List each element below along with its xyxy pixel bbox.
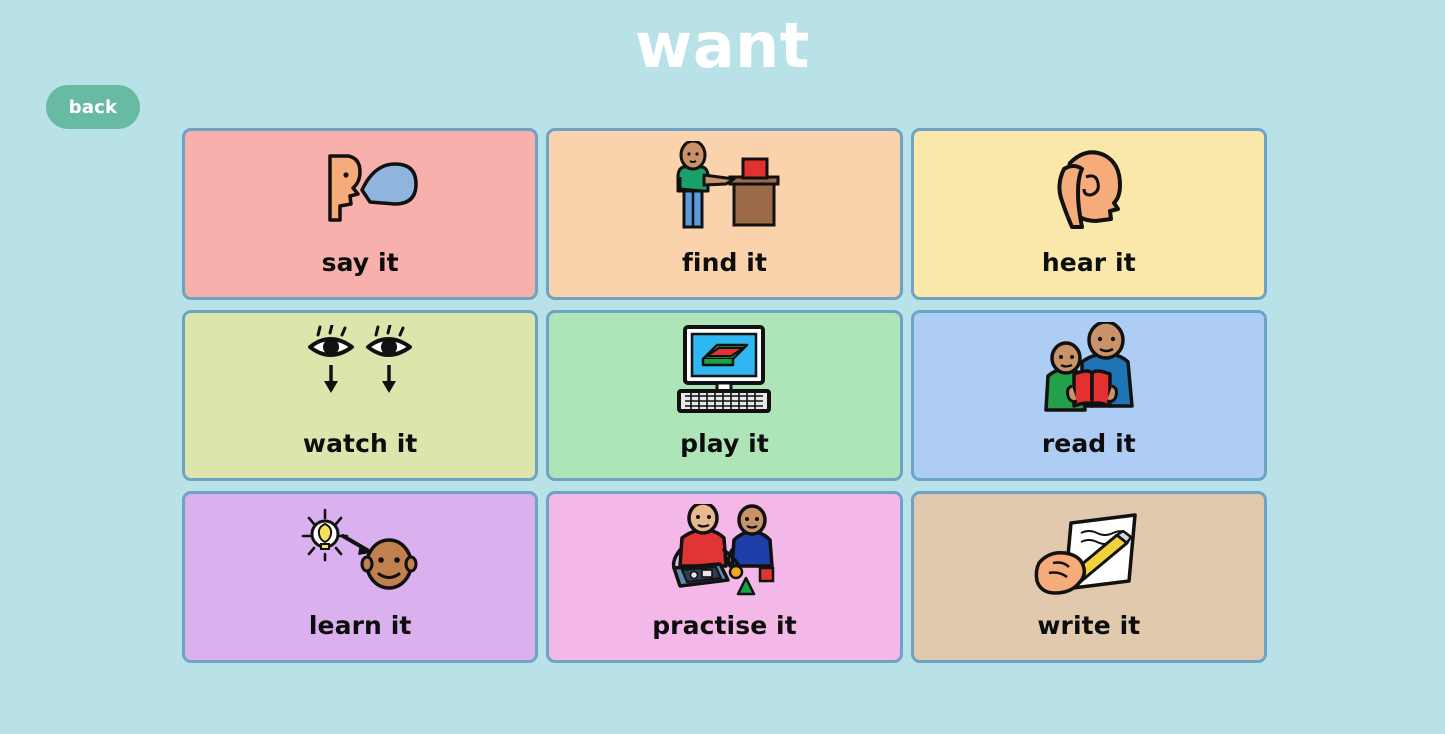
speaking-head-icon	[295, 140, 425, 236]
card-practise-it[interactable]: practise it	[546, 491, 902, 663]
hand-to-ear-icon	[1024, 140, 1154, 236]
card-find-it[interactable]: find it	[546, 128, 902, 300]
person-pointing-at-object-icon	[659, 140, 789, 236]
card-label: practise it	[549, 611, 899, 640]
card-label: watch it	[185, 429, 535, 458]
activity-card-grid: say it	[182, 128, 1267, 663]
computer-game-icon	[659, 321, 789, 417]
card-play-it[interactable]: play it	[546, 310, 902, 482]
card-say-it[interactable]: say it	[182, 128, 538, 300]
card-watch-it[interactable]: watch it	[182, 310, 538, 482]
two-eyes-looking-down-icon	[295, 321, 425, 417]
adult-and-child-reading-book-icon	[1024, 321, 1154, 417]
page-title: want	[0, 12, 1445, 80]
card-learn-it[interactable]: learn it	[182, 491, 538, 663]
lightbulb-idea-to-head-icon	[295, 503, 425, 599]
card-read-it[interactable]: read it	[911, 310, 1267, 482]
card-label: learn it	[185, 611, 535, 640]
back-button[interactable]: back	[46, 85, 140, 129]
hand-writing-with-pencil-icon	[1024, 503, 1154, 599]
card-label: hear it	[914, 248, 1264, 277]
card-write-it[interactable]: write it	[911, 491, 1267, 663]
card-label: find it	[549, 248, 899, 277]
card-hear-it[interactable]: hear it	[911, 128, 1267, 300]
card-label: write it	[914, 611, 1264, 640]
two-children-with-tablet-icon	[659, 503, 789, 599]
card-label: play it	[549, 429, 899, 458]
card-label: say it	[185, 248, 535, 277]
card-label: read it	[914, 429, 1264, 458]
